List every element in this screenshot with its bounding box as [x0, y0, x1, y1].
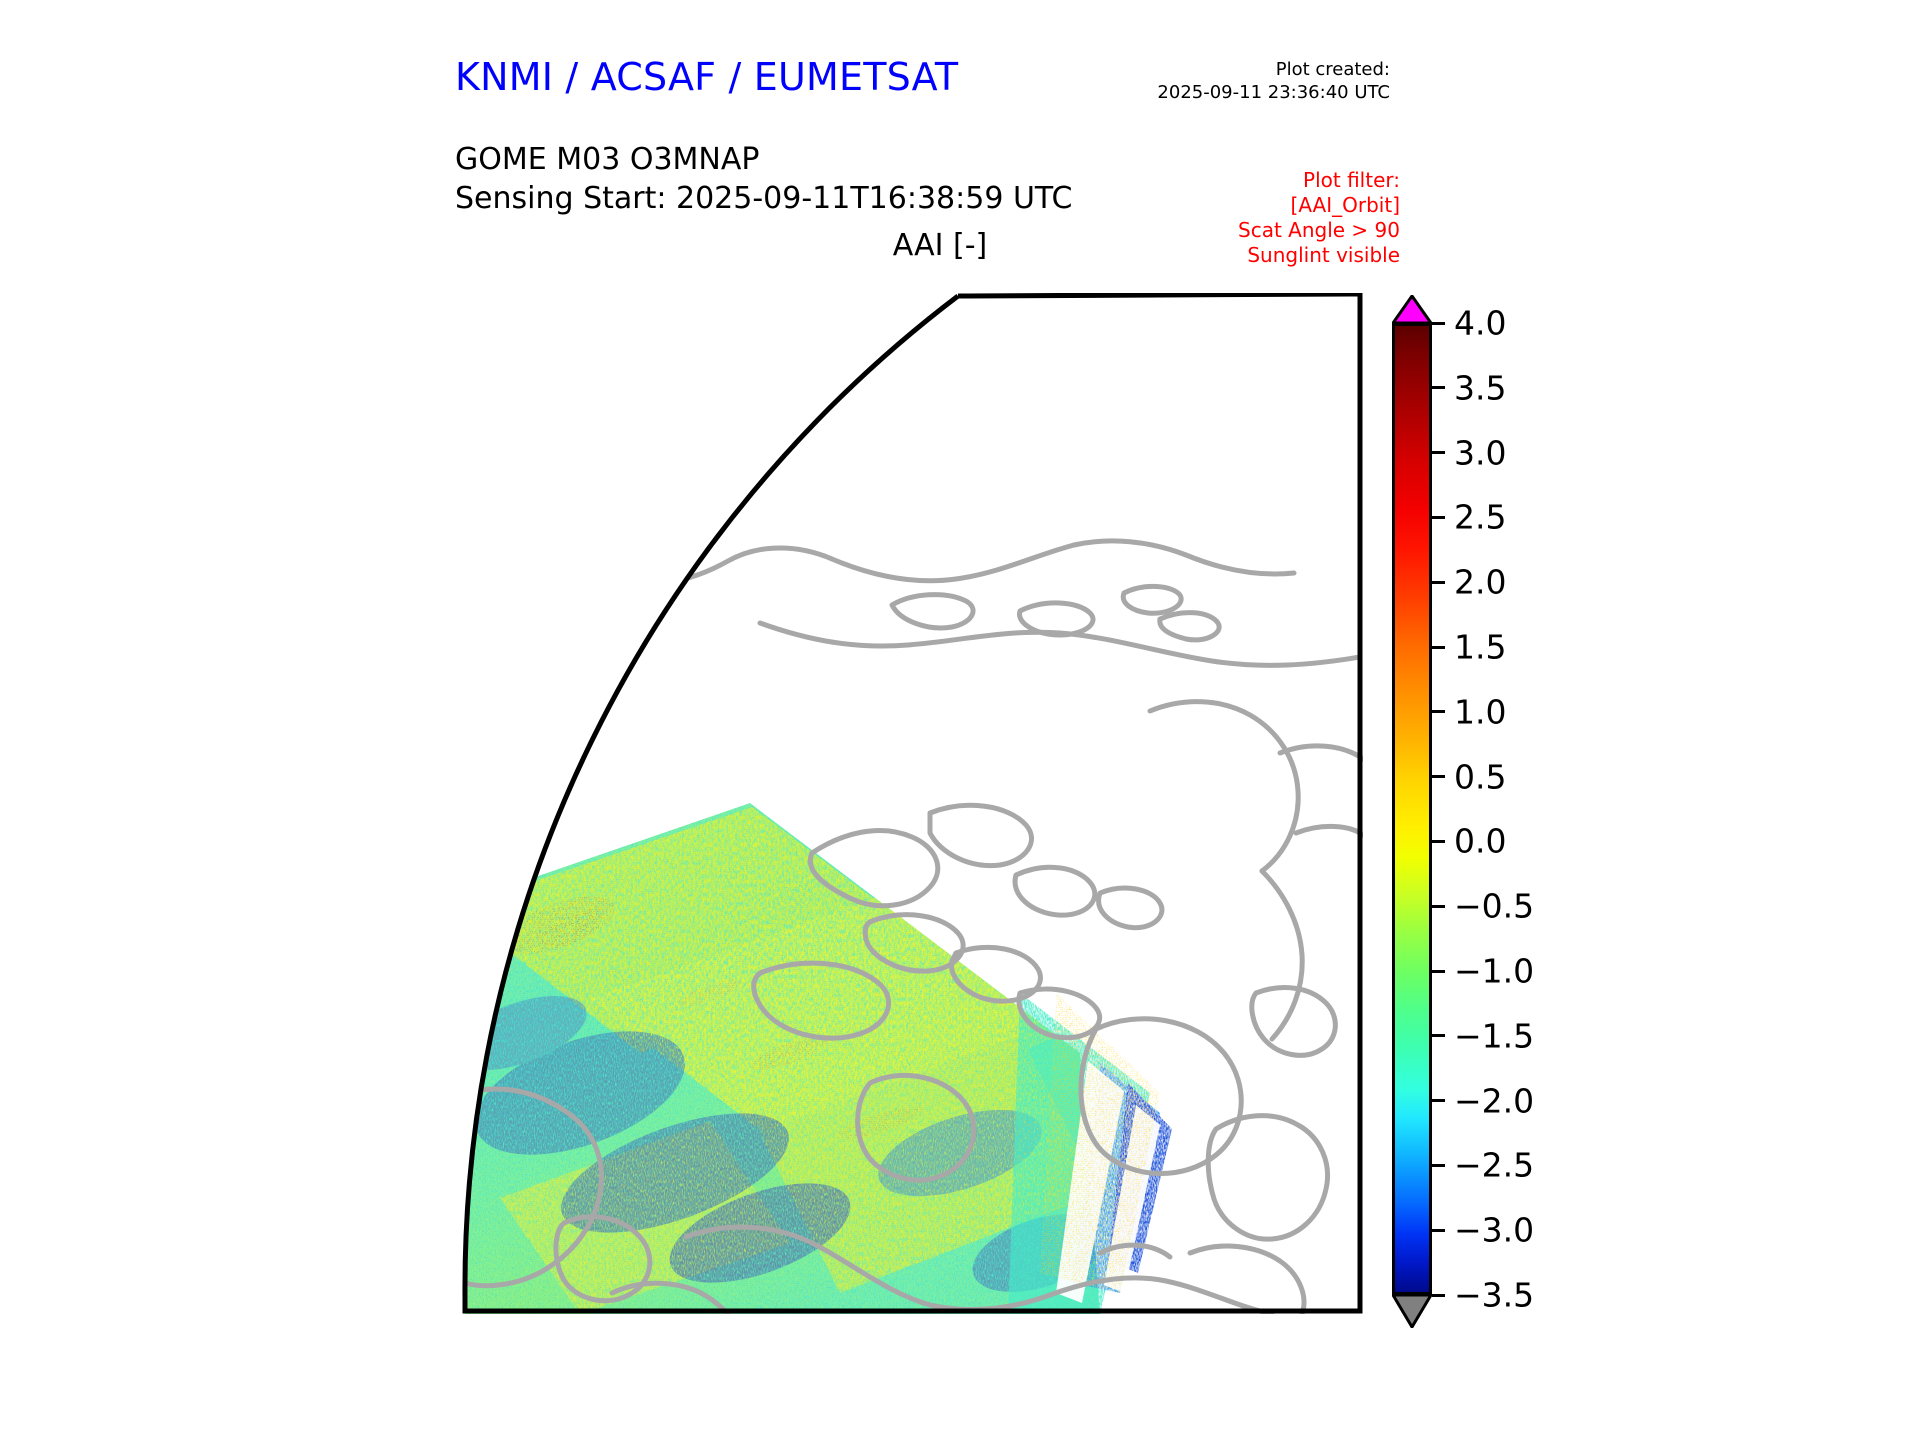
- plot-created-time: 2025-09-11 23:36:40 UTC: [1090, 81, 1390, 104]
- colorbar-tick-label: −3.5: [1454, 1276, 1534, 1315]
- colorbar-tick: [1432, 970, 1445, 973]
- colorbar-over-arrow: [1392, 295, 1432, 324]
- colorbar-tick-label: 2.5: [1454, 498, 1506, 537]
- colorbar-tick-label: 4.0: [1454, 304, 1506, 343]
- colorbar-tick-label: −3.0: [1454, 1211, 1534, 1250]
- swath-layer: [460, 803, 1172, 1314]
- colorbar-tick-label: 3.0: [1454, 433, 1506, 472]
- plot-filter-orbit: [AAI_Orbit]: [1100, 193, 1400, 218]
- plot-filter-scat-angle: Scat Angle > 90: [1100, 218, 1400, 243]
- colorbar-under-arrow: [1392, 1294, 1432, 1328]
- colorbar-tick: [1432, 322, 1445, 325]
- plot-filter-sunglint: Sunglint visible: [1100, 243, 1400, 268]
- colorbar-tick-label: 1.0: [1454, 692, 1506, 731]
- plot-filter-block: Plot filter: [AAI_Orbit] Scat Angle > 90…: [1100, 168, 1400, 268]
- colorbar-gradient: [1392, 323, 1432, 1295]
- colorbar-tick: [1432, 775, 1445, 778]
- colorbar[interactable]: 4.03.53.02.52.01.51.00.50.0−0.5−1.0−1.5−…: [1392, 295, 1622, 1335]
- organisation-title: KNMI / ACSAF / EUMETSAT: [455, 55, 958, 99]
- colorbar-tick-label: 0.5: [1454, 757, 1506, 796]
- colorbar-tick: [1432, 710, 1445, 713]
- colorbar-tick-label: −1.0: [1454, 952, 1534, 991]
- colorbar-tick: [1432, 451, 1445, 454]
- colorbar-tick: [1432, 646, 1445, 649]
- map-plot-area: [460, 293, 1363, 1314]
- colorbar-tick-label: 0.0: [1454, 822, 1506, 861]
- colorbar-tick-label: 3.5: [1454, 368, 1506, 407]
- colorbar-tick: [1432, 1034, 1445, 1037]
- colorbar-tick: [1432, 1229, 1445, 1232]
- product-metadata: GOME M03 O3MNAP Sensing Start: 2025-09-1…: [455, 140, 1072, 218]
- colorbar-tick: [1432, 581, 1445, 584]
- colorbar-tick-label: −2.5: [1454, 1146, 1534, 1185]
- colorbar-tick: [1432, 1099, 1445, 1102]
- colorbar-tick-label: 1.5: [1454, 628, 1506, 667]
- colorbar-tick: [1432, 516, 1445, 519]
- colorbar-tick-label: −2.0: [1454, 1081, 1534, 1120]
- colorbar-tick: [1432, 905, 1445, 908]
- colorbar-tick: [1432, 386, 1445, 389]
- map-canvas: [460, 293, 1363, 1314]
- colorbar-tick-label: −0.5: [1454, 887, 1534, 926]
- colorbar-tick-label: −1.5: [1454, 1016, 1534, 1055]
- plot-created-block: Plot created: 2025-09-11 23:36:40 UTC: [1090, 58, 1390, 104]
- colorbar-tick-label: 2.0: [1454, 563, 1506, 602]
- plot-created-label: Plot created:: [1090, 58, 1390, 81]
- sensing-start: Sensing Start: 2025-09-11T16:38:59 UTC: [455, 179, 1072, 218]
- colorbar-tick: [1432, 1164, 1445, 1167]
- plot-filter-label: Plot filter:: [1100, 168, 1400, 193]
- page-title: AAI [-]: [760, 228, 1120, 263]
- product-name: GOME M03 O3MNAP: [455, 140, 1072, 179]
- colorbar-tick: [1432, 1294, 1445, 1297]
- colorbar-tick: [1432, 840, 1445, 843]
